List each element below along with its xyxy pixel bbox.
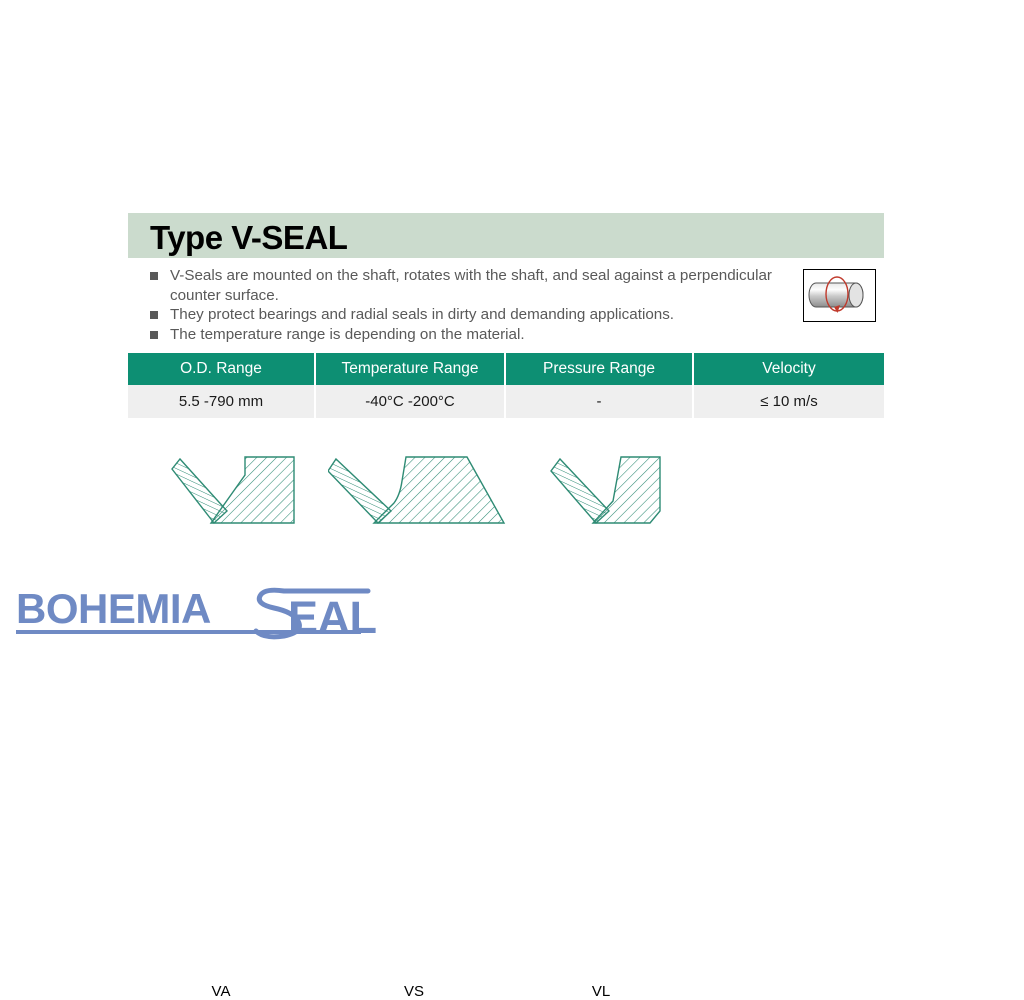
column-header: Temperature Range	[316, 353, 506, 385]
profile-vl-drawing	[543, 445, 703, 540]
slide-canvas: Type V-SEAL V-Seals are mounted on the s…	[0, 0, 1024, 768]
table-cell: ≤ 10 m/s	[694, 385, 884, 418]
table-row: 5.5 -790 mm -40°C -200°C - ≤ 10 m/s	[128, 385, 884, 418]
specification-table: O.D. Range Temperature Range Pressure Ra…	[128, 353, 884, 418]
square-bullet-icon	[150, 311, 158, 319]
page-title: Type V-SEAL	[150, 219, 347, 257]
profile-diagrams: VA VS VL	[128, 445, 888, 565]
table-header-row: O.D. Range Temperature Range Pressure Ra…	[128, 353, 884, 385]
table-cell: -40°C -200°C	[316, 385, 506, 418]
profile-label-vl: VL	[561, 983, 641, 1000]
square-bullet-icon	[150, 331, 158, 339]
bohemia-seal-logo: BOHEMIA EAL	[16, 583, 396, 643]
profile-label-va: VA	[181, 983, 261, 1000]
column-header: Pressure Range	[506, 353, 694, 385]
description-list: V-Seals are mounted on the shaft, rotate…	[150, 266, 790, 344]
rotating-shaft-icon	[803, 269, 876, 322]
column-header: O.D. Range	[128, 353, 316, 385]
table-cell: 5.5 -790 mm	[128, 385, 316, 418]
list-item-label: They protect bearings and radial seals i…	[170, 305, 790, 325]
profile-vs-drawing	[328, 445, 518, 540]
list-item-label: V-Seals are mounted on the shaft, rotate…	[170, 266, 790, 305]
square-bullet-icon	[150, 272, 158, 280]
list-item-label: The temperature range is depending on th…	[170, 325, 790, 345]
profile-label-vs: VS	[374, 983, 454, 1000]
list-item: The temperature range is depending on th…	[150, 325, 790, 345]
logo-text-eal: EAL	[288, 592, 377, 643]
list-item: V-Seals are mounted on the shaft, rotate…	[150, 266, 790, 305]
logo-text-bohemia: BOHEMIA	[16, 585, 211, 632]
list-item: They protect bearings and radial seals i…	[150, 305, 790, 325]
column-header: Velocity	[694, 353, 884, 385]
table-cell: -	[506, 385, 694, 418]
profile-va-drawing	[150, 445, 310, 540]
